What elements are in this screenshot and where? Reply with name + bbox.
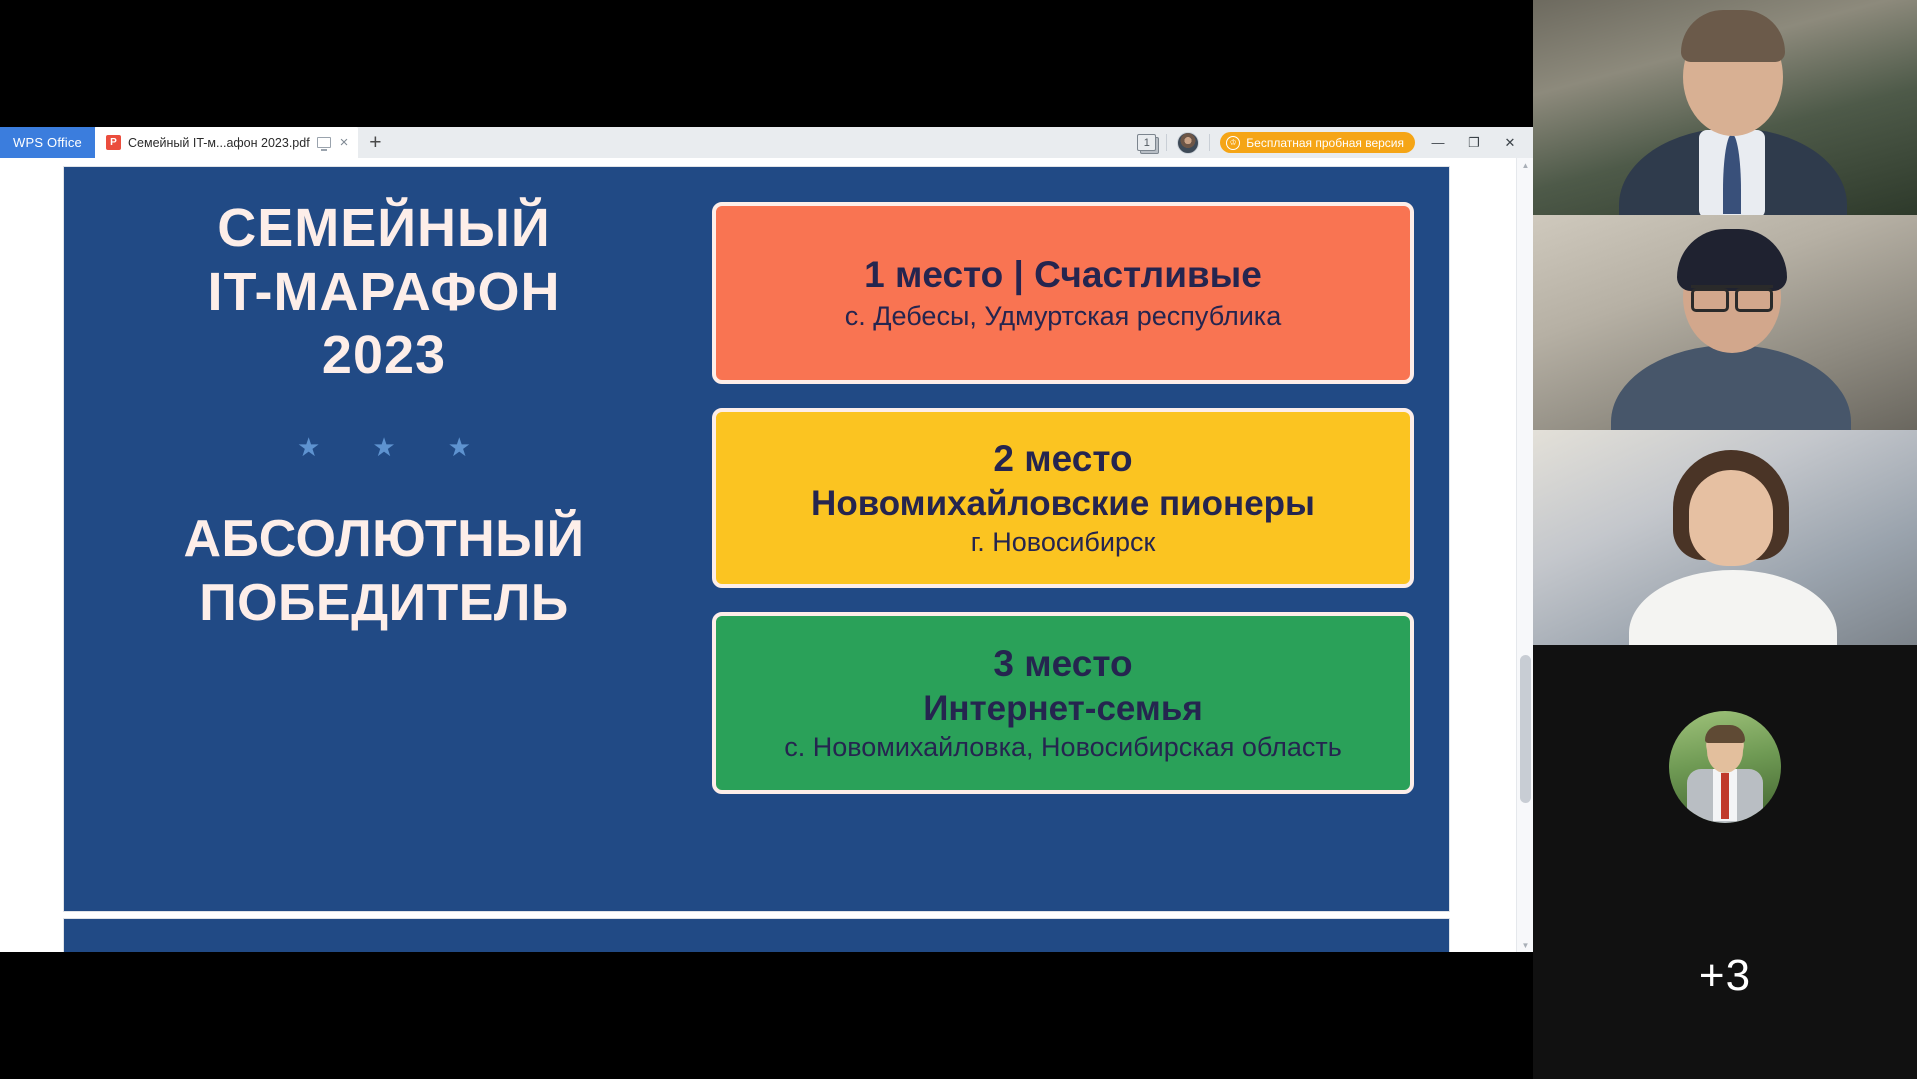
wps-office-window: WPS Office P Семейный IT-м...афон 2023.p…	[0, 127, 1533, 952]
avatar[interactable]	[1177, 132, 1199, 154]
close-icon: ✕	[1505, 135, 1516, 151]
star-icon: ★	[372, 434, 395, 460]
plus-icon: +	[369, 131, 381, 155]
participant-hair	[1677, 229, 1787, 291]
divider	[1166, 134, 1167, 151]
pdf-document-area[interactable]: СЕМЕЙНЫЙ IT-МАРАФОН 2023 ★ ★ ★ АБСОЛЮТНЫ…	[0, 158, 1533, 952]
scroll-up-icon[interactable]: ▲	[1517, 158, 1533, 172]
crown-icon: ♔	[1226, 136, 1240, 150]
award-team-label: Новомихайловские пионеры	[732, 483, 1394, 525]
scrollbar-thumb[interactable]	[1520, 655, 1531, 803]
wps-office-brand-label: WPS Office	[13, 135, 82, 150]
restore-icon: ❐	[1468, 135, 1480, 151]
award-location-label: с. Новомихайловка, Новосибирская область	[732, 730, 1394, 765]
pdf-page-1: СЕМЕЙНЫЙ IT-МАРАФОН 2023 ★ ★ ★ АБСОЛЮТНЫ…	[64, 167, 1449, 911]
slide-subtitle-line-1: АБСОЛЮТНЫЙ	[64, 508, 704, 571]
award-place-label: 2 место	[732, 436, 1394, 482]
star-icon: ★	[297, 434, 320, 460]
slide-title-line-2: IT-МАРАФОН	[64, 261, 704, 325]
video-tile-participant-1[interactable]	[1533, 0, 1917, 215]
page-count-label: 1	[1144, 137, 1150, 149]
participant-body	[1629, 570, 1837, 645]
screen-root: WPS Office P Семейный IT-м...афон 2023.p…	[0, 0, 1917, 1079]
tab-strip-right-controls: 1 ♔ Бесплатная пробная версия — ❐	[1137, 127, 1533, 158]
pdf-page-2	[64, 919, 1449, 952]
avatar-tie	[1721, 773, 1729, 819]
participant-face	[1689, 470, 1773, 566]
video-tile-participant-2[interactable]	[1533, 215, 1917, 430]
new-tab-button[interactable]: +	[358, 127, 392, 158]
pdf-file-icon: P	[106, 135, 121, 150]
page-count-badge[interactable]: 1	[1137, 134, 1156, 151]
participants-overflow-count[interactable]: +3	[1699, 951, 1751, 1001]
close-icon[interactable]: ×	[338, 135, 351, 150]
document-tab[interactable]: P Семейный IT-м...афон 2023.pdf ×	[95, 127, 358, 158]
glasses-icon	[1691, 285, 1773, 303]
award-card-second-place: 2 место Новомихайловские пионеры г. Ново…	[712, 408, 1414, 588]
video-tile-participant-4[interactable]: +3	[1533, 645, 1917, 1079]
scroll-down-icon[interactable]: ▼	[1517, 938, 1533, 952]
slide-left-column: СЕМЕЙНЫЙ IT-МАРАФОН 2023 ★ ★ ★ АБСОЛЮТНЫ…	[64, 197, 704, 635]
slide-title-line-1: СЕМЕЙНЫЙ	[64, 197, 704, 261]
video-participants-rail: +3	[1533, 0, 1917, 1079]
minimize-button[interactable]: —	[1425, 132, 1451, 154]
award-location-label: с. Дебесы, Удмуртская республика	[732, 299, 1394, 334]
award-team-label: Интернет-семья	[732, 688, 1394, 730]
award-place-label: 1 место | Счастливые	[732, 252, 1394, 298]
slide-subtitle-line-2: ПОБЕДИТЕЛЬ	[64, 572, 704, 635]
award-card-first-place: 1 место | Счастливые с. Дебесы, Удмуртск…	[712, 202, 1414, 384]
slide-subtitle: АБСОЛЮТНЫЙ ПОБЕДИТЕЛЬ	[64, 508, 704, 635]
video-tile-participant-3[interactable]	[1533, 430, 1917, 645]
present-monitor-icon[interactable]	[317, 137, 331, 148]
award-cards-column: 1 место | Счастливые с. Дебесы, Удмуртск…	[712, 202, 1414, 794]
star-icon: ★	[448, 434, 471, 460]
participant-body	[1611, 345, 1851, 430]
document-scrollbar[interactable]: ▲ ▼	[1516, 158, 1533, 952]
slide-title-line-3: 2023	[64, 324, 704, 388]
avatar	[1669, 711, 1781, 823]
close-window-button[interactable]: ✕	[1497, 132, 1523, 154]
wps-office-brand-button[interactable]: WPS Office	[0, 127, 95, 158]
award-place-label: 3 место	[732, 641, 1394, 687]
divider	[1209, 134, 1210, 151]
minimize-icon: —	[1432, 135, 1445, 150]
free-trial-badge[interactable]: ♔ Бесплатная пробная версия	[1220, 132, 1415, 153]
browser-tab-strip: WPS Office P Семейный IT-м...афон 2023.p…	[0, 127, 1533, 158]
avatar-hair	[1705, 725, 1745, 743]
stars-row: ★ ★ ★	[64, 434, 704, 460]
shared-screen-region: WPS Office P Семейный IT-м...афон 2023.p…	[0, 0, 1533, 1079]
award-location-label: г. Новосибирск	[732, 525, 1394, 560]
document-tab-label: Семейный IT-м...афон 2023.pdf	[128, 136, 310, 150]
restore-button[interactable]: ❐	[1461, 132, 1487, 154]
pdf-page-stack: СЕМЕЙНЫЙ IT-МАРАФОН 2023 ★ ★ ★ АБСОЛЮТНЫ…	[64, 167, 1449, 952]
free-trial-label: Бесплатная пробная версия	[1246, 136, 1404, 150]
participant-hair	[1681, 10, 1785, 62]
award-card-third-place: 3 место Интернет-семья с. Новомихайловка…	[712, 612, 1414, 794]
